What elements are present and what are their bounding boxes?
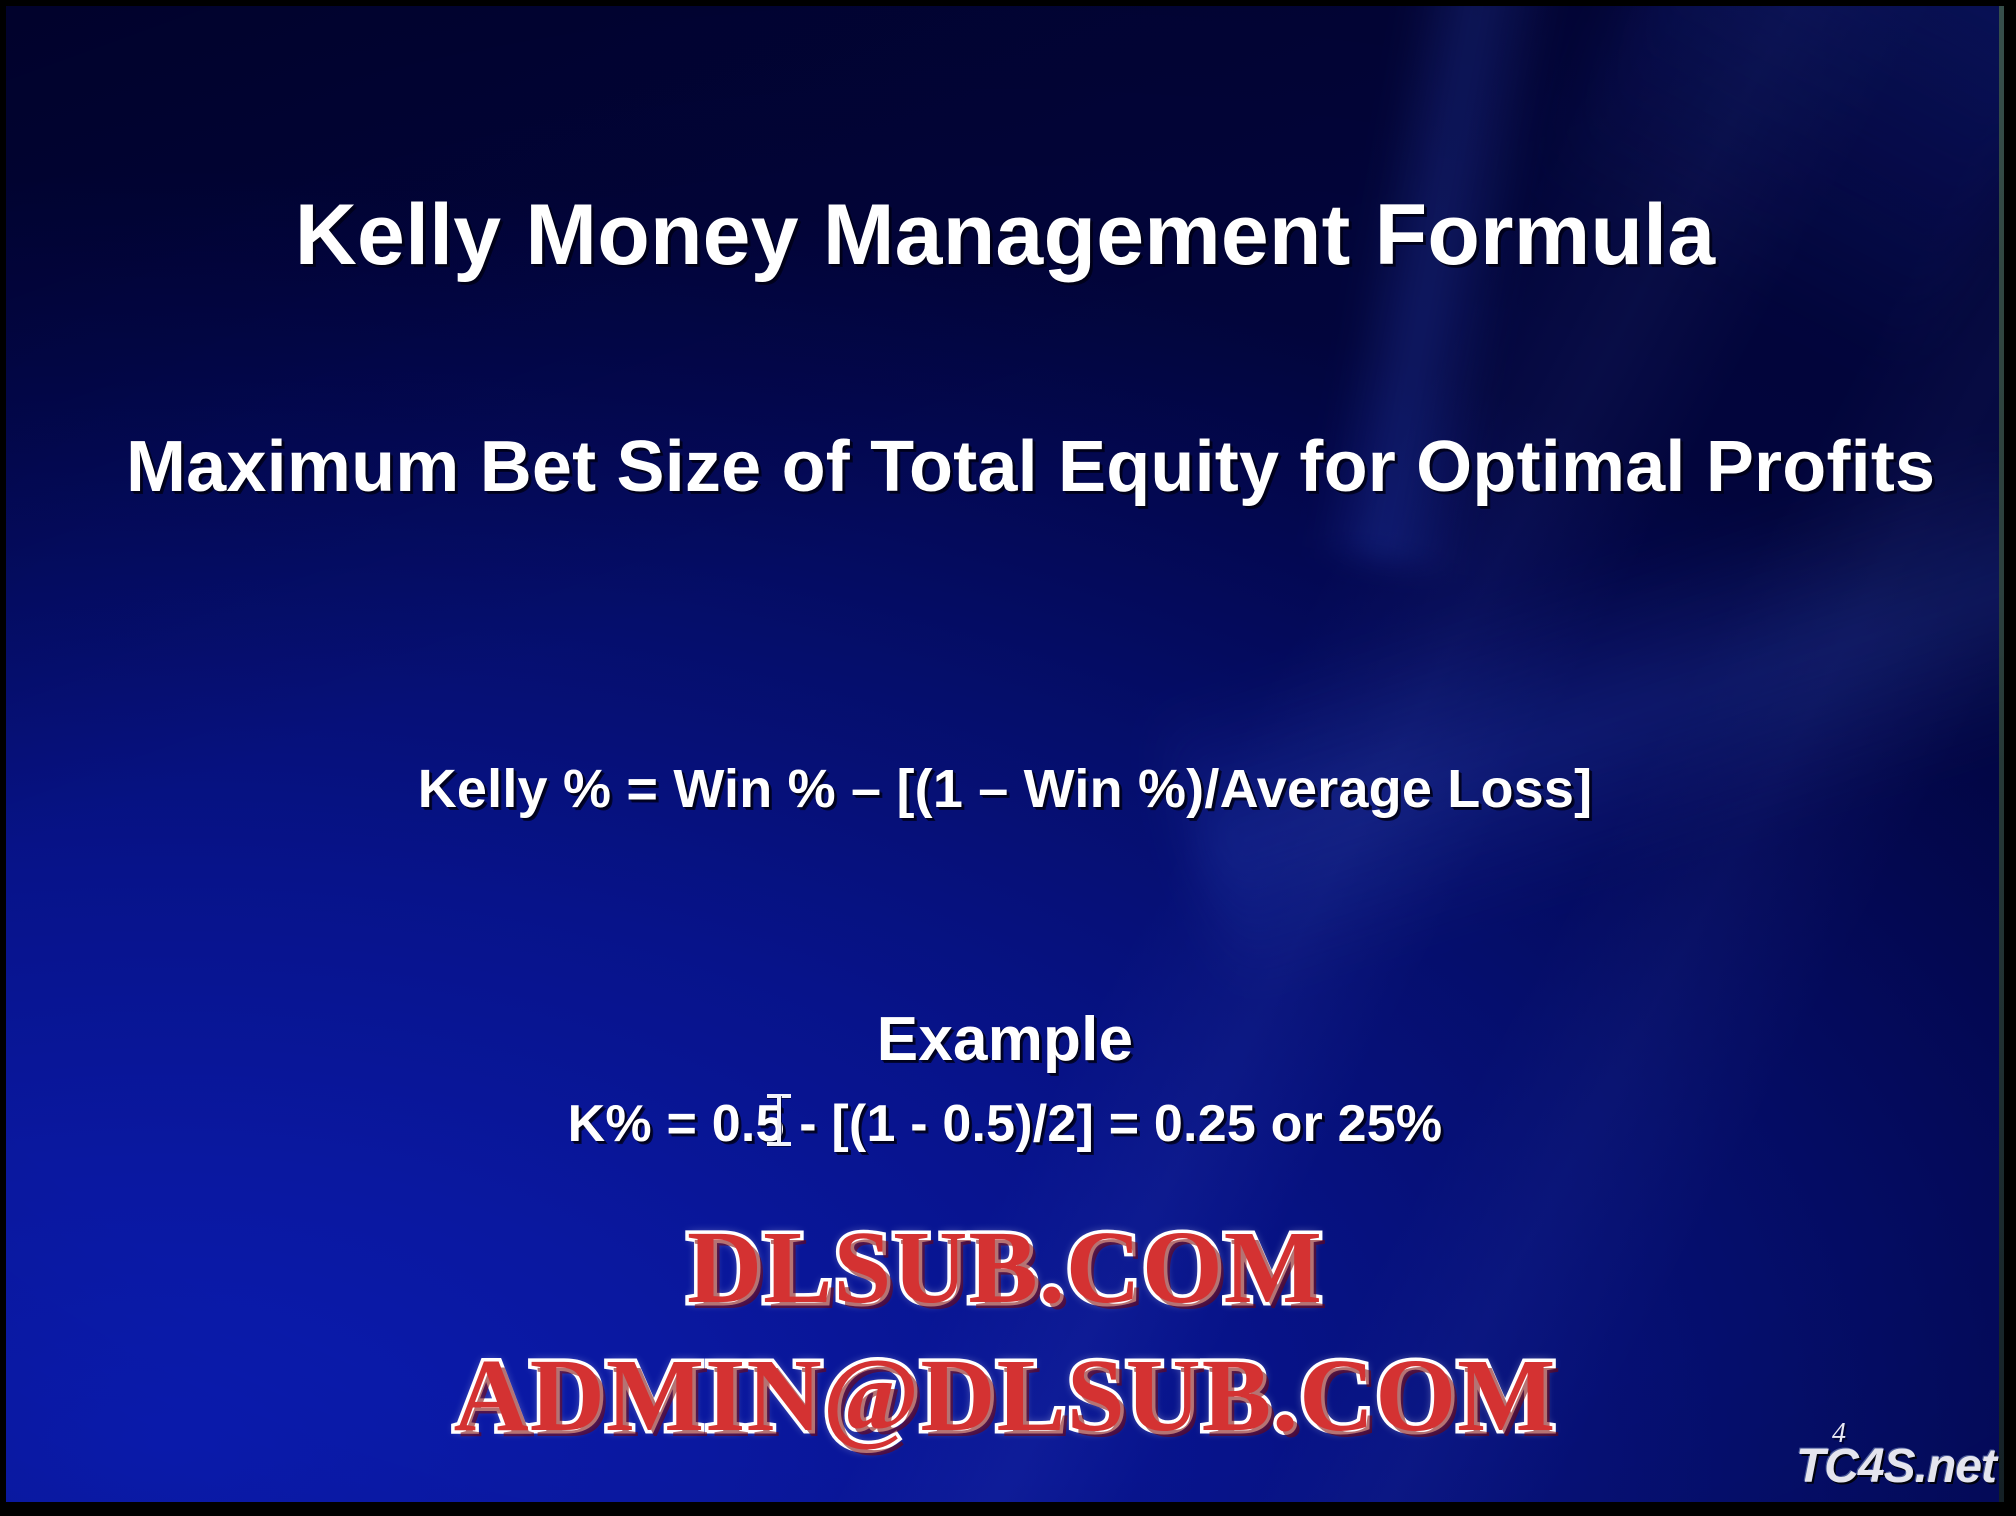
kelly-formula-text: Kelly % = Win % – [(1 – Win %)/Average L… [6, 758, 2004, 820]
video-player-frame: Kelly Money Management Formula Maximum B… [0, 0, 2016, 1516]
slide-title: Kelly Money Management Formula [6, 192, 2004, 278]
i-beam-stem [777, 1096, 781, 1144]
example-formula-text: K% = 0.5 - [(1 - 0.5)/2] = 0.25 or 25% [6, 1094, 2004, 1154]
background-light-streak-lower [1152, 434, 2004, 997]
i-beam-bottom-serif [767, 1142, 791, 1146]
tc4s-corner-logo: TC4S.net [1796, 1439, 1996, 1494]
watermark-email-address: ADMIN@DLSUB.COM [6, 1336, 2004, 1455]
slide-subtitle: Maximum Bet Size of Total Equity for Opt… [126, 424, 1884, 512]
example-heading: Example [6, 1004, 2004, 1075]
i-beam-cursor-icon [766, 1092, 792, 1148]
slide-right-edge-border [1999, 6, 2004, 1502]
watermark-site-url: DLSUB.COM [6, 1208, 2004, 1327]
presentation-slide: Kelly Money Management Formula Maximum B… [6, 6, 2004, 1502]
